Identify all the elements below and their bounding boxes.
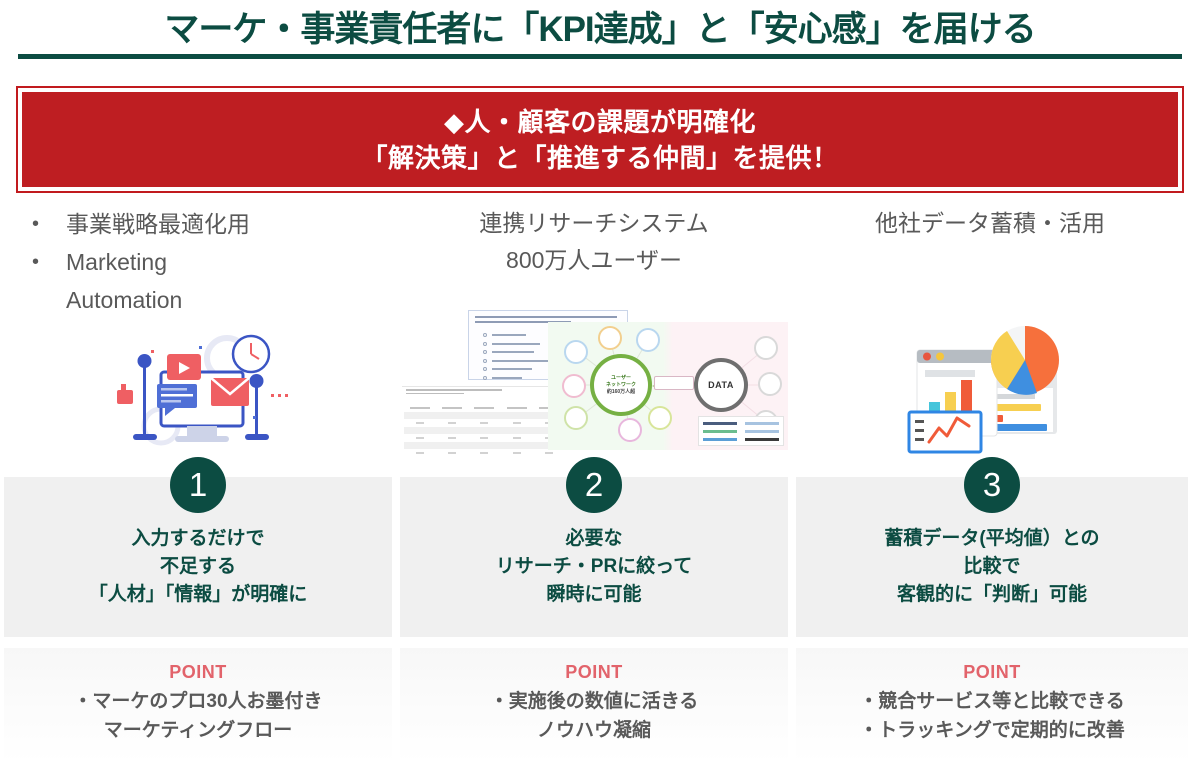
column-1-heading: • 事業戦略最適化用 • Marketing Automation — [4, 205, 392, 320]
user-network-hub: ユーザー ネットワーク 約160万人超 — [590, 354, 652, 416]
point-label: POINT — [400, 662, 788, 683]
point-box-3: POINT ・競合サービス等と比較できる ・トラッキングで定期的に改善 — [796, 648, 1188, 763]
table-row — [404, 419, 565, 426]
radio-icon — [483, 359, 487, 363]
column-3: 他社データ蓄積・活用 — [796, 205, 1184, 765]
column-3-heading: 他社データ蓄積・活用 — [796, 205, 1184, 320]
column-3-heading-text: 他社データ蓄積・活用 — [796, 205, 1184, 242]
list-item: Automation — [32, 281, 392, 319]
table-group-band — [404, 442, 565, 449]
radio-icon — [483, 350, 487, 354]
list-item — [483, 333, 548, 337]
feature-card-2: 2 必要な リサーチ・PRに絞って 瞬時に可能 — [400, 477, 788, 637]
card-line: 必要な — [400, 525, 788, 553]
bullet-dot-icon: • — [32, 205, 66, 243]
card-line: 蓄積データ(平均値）との — [796, 525, 1188, 553]
banner-line-2: 「解決策」と「推進する仲間」を提供！ — [361, 140, 838, 176]
point-label: POINT — [796, 662, 1188, 683]
list-item: • 事業戦略最適化用 — [32, 205, 392, 243]
table-group-band — [404, 412, 565, 419]
step-number-badge: 2 — [566, 457, 622, 513]
network-node-icon — [648, 406, 672, 430]
table-grid — [404, 405, 565, 456]
point-line: ・競合サービス等と比較できる — [796, 687, 1188, 716]
heading-line: 800万人ユーザー — [400, 242, 788, 279]
list-item — [483, 350, 548, 354]
data-hub: DATA — [694, 358, 748, 412]
hub-line: 約160万人超 — [607, 389, 635, 396]
list-item — [483, 359, 548, 363]
bullet-text: Marketing — [66, 243, 392, 281]
step-number-badge: 1 — [170, 457, 226, 513]
column-1: • 事業戦略最適化用 • Marketing Automation — [4, 205, 392, 765]
bullet-dot-icon: • — [32, 243, 66, 281]
network-node-icon — [562, 374, 586, 398]
title-underline-rule — [18, 54, 1182, 59]
hub-line: ユーザー — [611, 375, 631, 382]
network-node-icon — [758, 372, 782, 396]
feature-card-2-text: 必要な リサーチ・PRに絞って 瞬時に可能 — [400, 525, 788, 609]
table-header-row — [404, 405, 565, 411]
column-1-illustration-area — [4, 320, 392, 468]
table-row — [404, 449, 565, 456]
point-line: マーケティングフロー — [4, 716, 392, 745]
point-body-3: ・競合サービス等と比較できる ・トラッキングで定期的に改善 — [796, 687, 1188, 745]
network-node-icon — [618, 418, 642, 442]
card-line: リサーチ・PRに絞って — [400, 553, 788, 581]
bullet-text: Automation — [66, 281, 392, 319]
radio-icon — [483, 333, 487, 337]
point-label: POINT — [4, 662, 392, 683]
point-line: ・実施後の数値に活きる — [400, 687, 788, 716]
column-2: 連携リサーチシステム 800万人ユーザー — [400, 205, 788, 765]
columns-container: • 事業戦略最適化用 • Marketing Automation — [0, 205, 1200, 765]
point-box-1: POINT ・マーケのプロ30人お墨付き マーケティングフロー — [4, 648, 392, 763]
list-item — [483, 367, 548, 371]
list-item — [483, 376, 548, 380]
step-number-badge: 3 — [964, 457, 1020, 513]
network-node-icon — [636, 328, 660, 352]
network-node-icon — [754, 336, 778, 360]
partner-logo-box — [698, 416, 784, 446]
feature-card-1-text: 入力するだけで 不足する 「人材」「情報」が明確に — [4, 525, 392, 609]
user-network-data-diagram: ユーザー ネットワーク 約160万人超 DATA — [548, 322, 788, 450]
mapping-arrow-label — [654, 376, 694, 390]
list-item: • Marketing — [32, 243, 392, 281]
column-2-illustration-area: ユーザー ネットワーク 約160万人超 DATA — [400, 320, 788, 468]
card-line: 客観的に「判断」可能 — [796, 581, 1188, 609]
hub-line: ネットワーク — [606, 382, 636, 389]
column-1-bullet-list: • 事業戦略最適化用 • Marketing Automation — [4, 205, 392, 319]
network-node-icon — [598, 326, 622, 350]
heading-line: 連携リサーチシステム — [400, 205, 788, 242]
slide-title-area: マーケ・事業責任者に「KPI達成」と「安心感」を届ける — [0, 8, 1200, 64]
feature-card-1: 1 入力するだけで 不足する 「人材」「情報」が明確に — [4, 477, 392, 637]
point-box-2: POINT ・実施後の数値に活きる ノウハウ凝縮 — [400, 648, 788, 763]
table-title-placeholder — [406, 389, 502, 396]
banner-line-1: ◆人・顧客の課題が明確化 — [444, 104, 756, 140]
radio-icon — [483, 342, 487, 346]
analytics-dashboard-illustration — [895, 316, 1085, 466]
heading-line: 他社データ蓄積・活用 — [796, 205, 1184, 242]
survey-option-list — [483, 333, 548, 384]
card-line: 比較で — [796, 553, 1188, 581]
column-2-heading-text: 連携リサーチシステム 800万人ユーザー — [400, 205, 788, 279]
radio-icon — [483, 367, 487, 371]
radio-icon — [483, 376, 487, 380]
list-item — [483, 342, 548, 346]
highlight-banner-inner: ◆人・顧客の課題が明確化 「解決策」と「推進する仲間」を提供！ — [22, 92, 1178, 187]
table-row — [404, 434, 565, 441]
hub-data-label: DATA — [708, 380, 734, 390]
point-line: ノウハウ凝縮 — [400, 716, 788, 745]
point-body-1: ・マーケのプロ30人お墨付き マーケティングフロー — [4, 687, 392, 745]
column-3-illustration-area — [796, 320, 1184, 468]
bullet-text: 事業戦略最適化用 — [66, 205, 392, 243]
point-line: ・トラッキングで定期的に改善 — [796, 716, 1188, 745]
marketing-automation-illustration — [103, 328, 293, 456]
point-body-2: ・実施後の数値に活きる ノウハウ凝縮 — [400, 687, 788, 745]
card-line: 不足する — [4, 553, 392, 581]
point-line: ・マーケのプロ30人お墨付き — [4, 687, 392, 716]
page-title: マーケ・事業責任者に「KPI達成」と「安心感」を届ける — [0, 8, 1200, 52]
card-line: 入力するだけで — [4, 525, 392, 553]
feature-card-3: 3 蓄積データ(平均値）との 比較で 客観的に「判断」可能 — [796, 477, 1188, 637]
network-node-icon — [564, 406, 588, 430]
research-network-diagram: ユーザー ネットワーク 約160万人超 DATA — [400, 300, 788, 470]
card-line: 「人材」「情報」が明確に — [4, 581, 392, 609]
table-group-band — [404, 427, 565, 434]
network-node-icon — [564, 340, 588, 364]
feature-card-3-text: 蓄積データ(平均値）との 比較で 客観的に「判断」可能 — [796, 525, 1188, 609]
highlight-banner: ◆人・顧客の課題が明確化 「解決策」と「推進する仲間」を提供！ — [16, 86, 1184, 193]
card-line: 瞬時に可能 — [400, 581, 788, 609]
slide-root: マーケ・事業責任者に「KPI達成」と「安心感」を届ける ◆人・顧客の課題が明確化… — [0, 0, 1200, 765]
data-table-thumbnail — [402, 386, 567, 448]
